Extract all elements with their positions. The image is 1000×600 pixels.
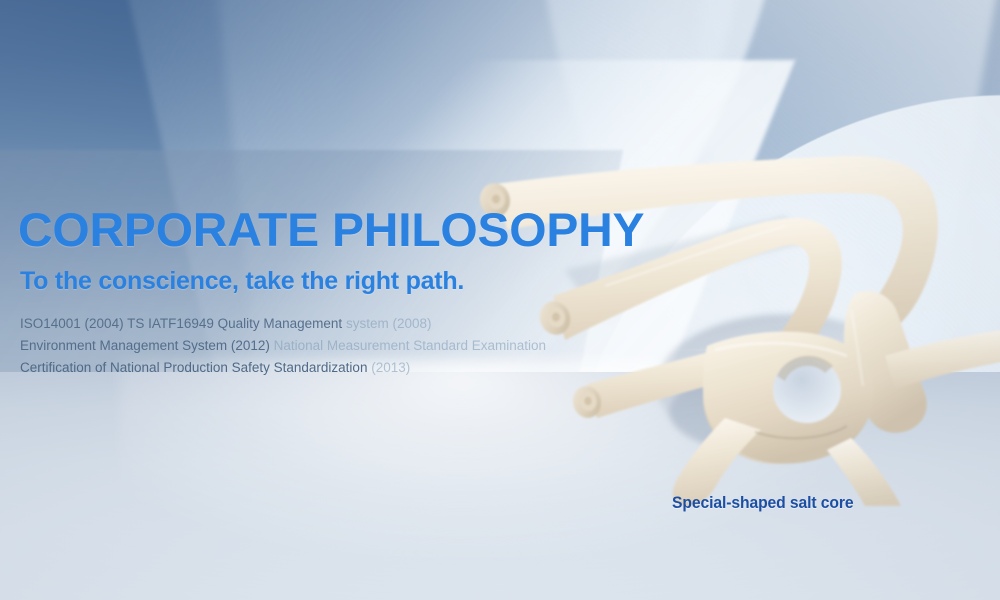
certification-text-faded: National Measurement Standard Examinatio… <box>274 338 546 353</box>
certification-list: ISO14001 (2004) TS IATF16949 Quality Man… <box>20 313 578 379</box>
certification-text: Certification of National Production Saf… <box>20 360 371 375</box>
certification-text: ISO14001 (2004) TS IATF16949 Quality Man… <box>20 316 346 331</box>
subtitle: To the conscience, take the right path. <box>20 268 578 296</box>
certification-text: Environment Management System (2012) <box>20 338 274 353</box>
certification-item: Environment Management System (2012) Nat… <box>20 335 578 357</box>
headline-block: CORPORATE PHILOSOPHY To the conscience, … <box>18 206 578 379</box>
page-title: CORPORATE PHILOSOPHY <box>18 206 589 254</box>
certification-item: ISO14001 (2004) TS IATF16949 Quality Man… <box>20 313 578 335</box>
certification-text-faded: system (2008) <box>346 316 432 331</box>
product-caption: Special-shaped salt core <box>672 494 854 513</box>
corporate-philosophy-banner: CORPORATE PHILOSOPHY To the conscience, … <box>0 0 1000 600</box>
certification-text-faded: (2013) <box>371 360 410 375</box>
certification-item: Certification of National Production Saf… <box>20 357 578 379</box>
